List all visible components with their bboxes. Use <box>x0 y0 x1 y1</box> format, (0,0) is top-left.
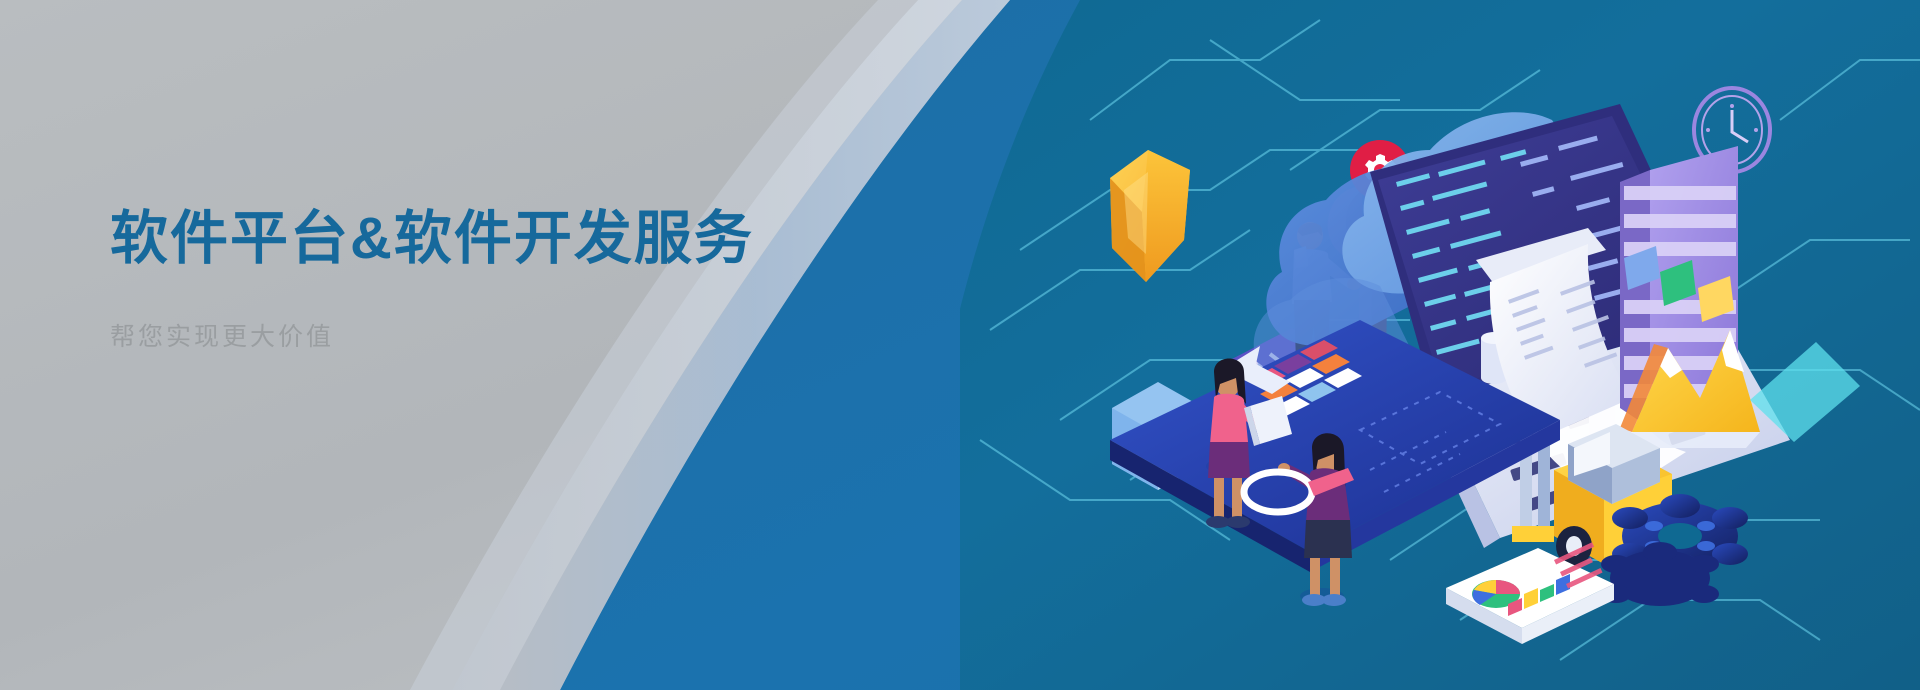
hero-banner: 软件平台&软件开发服务 帮您实现更大价值 <box>0 0 1920 690</box>
illustration-svg <box>960 0 1920 690</box>
page-title: 软件平台&软件开发服务 <box>110 206 754 273</box>
hero-illustration <box>960 0 1920 690</box>
banner-text-block: 软件平台&软件开发服务 帮您实现更大价值 <box>110 206 754 353</box>
page-subtitle: 帮您实现更大价值 <box>110 317 754 353</box>
